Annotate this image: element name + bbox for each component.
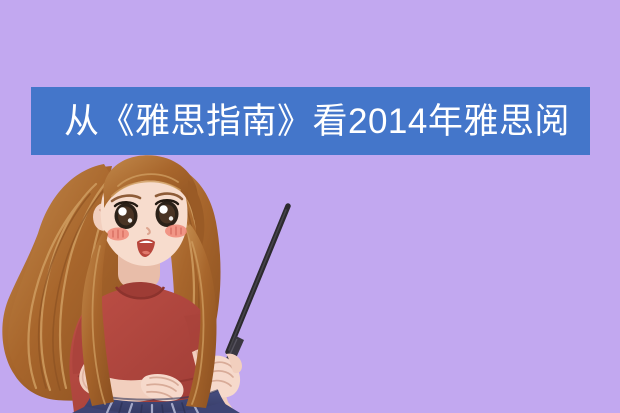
blush-right (165, 225, 187, 238)
image-canvas: 从《雅思指南》看2014年雅思阅 (0, 0, 620, 413)
blush-left (107, 228, 129, 241)
banner-title-text: 从《雅思指南》看2014年雅思阅 (31, 104, 570, 139)
title-banner: 从《雅思指南》看2014年雅思阅 (31, 87, 590, 155)
teacher-illustration (0, 150, 320, 413)
